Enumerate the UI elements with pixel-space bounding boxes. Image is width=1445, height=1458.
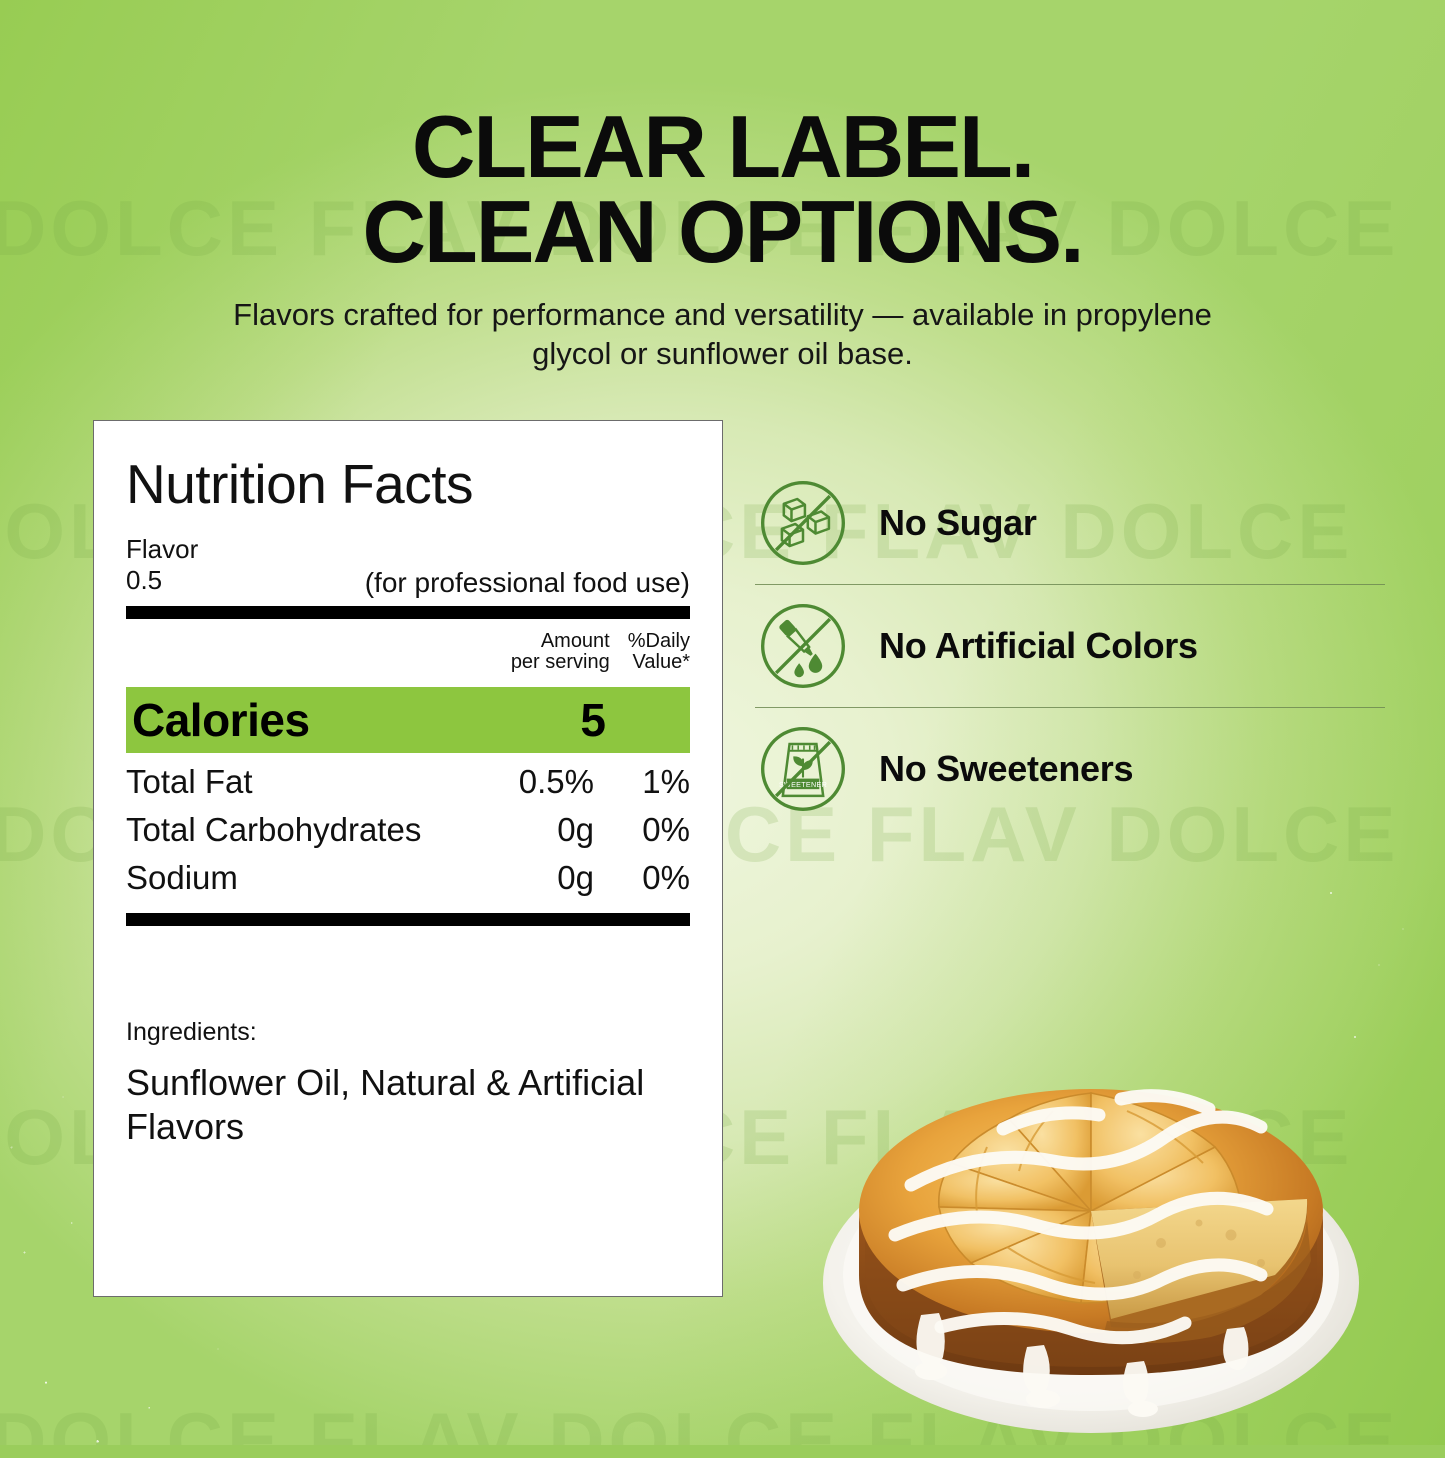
amount-per-serving-header: Amount per serving (511, 631, 610, 673)
nutrient-amount: 0g (444, 811, 594, 849)
feature-label: No Sugar (879, 502, 1037, 544)
no-sweetener-packet-icon: SWEETENER (755, 721, 851, 817)
calories-value: 5 (580, 693, 606, 747)
nutrition-column-headers: Amount per serving %Daily Value* (126, 631, 690, 677)
nutrition-facts-card: Nutrition Facts Flavor 0.5 (for professi… (93, 420, 723, 1297)
cake-product-photo (791, 923, 1445, 1453)
serving-info-row: Flavor 0.5 (for professional food use) (126, 534, 690, 600)
nutrient-name: Sodium (126, 859, 444, 897)
nutrient-amount: 0.5% (444, 763, 594, 801)
amount-header-line-2: per serving (511, 652, 610, 673)
headline-block: CLEAR LABEL. CLEAN OPTIONS. Flavors craf… (0, 104, 1445, 374)
table-row: Total Carbohydrates 0g 0% (126, 811, 690, 849)
headline-line-2: CLEAN OPTIONS. (0, 189, 1445, 274)
feature-item-no-artificial-colors: No Artificial Colors (755, 585, 1385, 707)
subheadline: Flavors crafted for performance and vers… (193, 295, 1253, 374)
feature-label: No Artificial Colors (879, 625, 1198, 667)
feature-divider (755, 707, 1385, 708)
dv-header-line-2: Value* (628, 652, 690, 673)
headline-line-1: CLEAR LABEL. (412, 97, 1033, 196)
ingredients-text: Sunflower Oil, Natural & Artificial Flav… (126, 1061, 690, 1149)
nutrient-name: Total Carbohydrates (126, 811, 444, 849)
no-sugar-cubes-icon (755, 475, 851, 571)
thick-rule-bottom (126, 913, 690, 926)
amount-header-line-1: Amount (511, 631, 610, 652)
nutrition-facts-title: Nutrition Facts (126, 457, 690, 512)
ingredients-label: Ingredients: (126, 1018, 690, 1047)
thick-rule-top (126, 606, 690, 619)
serving-label: Flavor (126, 534, 690, 565)
no-dropper-colors-icon (755, 598, 851, 694)
nutrient-amount: 0g (444, 859, 594, 897)
daily-value-header: %Daily Value* (628, 631, 690, 673)
dv-header-line-1: %Daily (628, 631, 690, 652)
calories-label: Calories (132, 693, 310, 747)
table-row: Sodium 0g 0% (126, 859, 690, 897)
feature-list: No Sugar No Artificial Colors (755, 462, 1385, 830)
nutrient-daily-value: 0% (594, 859, 690, 897)
nutrient-daily-value: 1% (594, 763, 690, 801)
feature-item-no-sugar: No Sugar (755, 462, 1385, 584)
table-row: Total Fat 0.5% 1% (126, 763, 690, 801)
feature-divider (755, 584, 1385, 585)
page-title: CLEAR LABEL. CLEAN OPTIONS. (0, 104, 1445, 275)
professional-use-note: (for professional food use) (365, 567, 690, 599)
calories-bar: Calories 5 (126, 687, 690, 753)
nutrient-name: Total Fat (126, 763, 444, 801)
feature-item-no-sweeteners: SWEETENER No Sweeteners (755, 708, 1385, 830)
feature-label: No Sweeteners (879, 748, 1133, 790)
nutrient-daily-value: 0% (594, 811, 690, 849)
